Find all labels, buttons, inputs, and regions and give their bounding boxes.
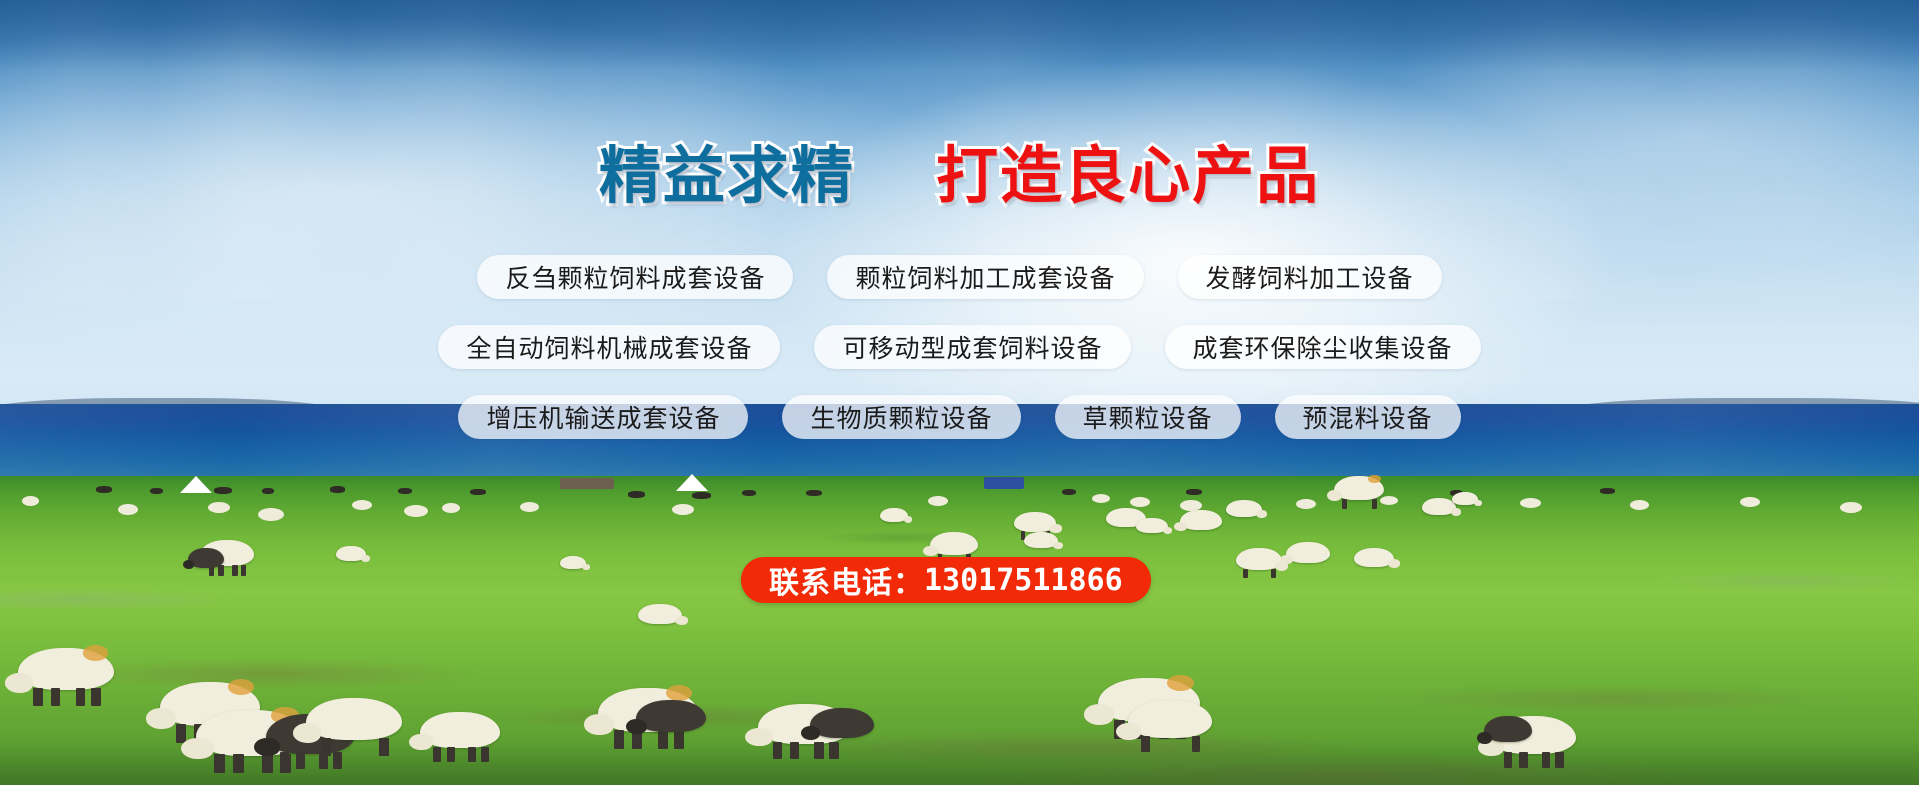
distant-sheep xyxy=(672,504,694,515)
distant-sheep xyxy=(118,504,138,515)
distant-animal xyxy=(692,492,711,499)
distant-animal xyxy=(1186,489,1202,495)
distant-sheep xyxy=(258,508,284,521)
distant-sheep xyxy=(404,505,428,517)
product-pill-fajiao-jiagong[interactable]: 发酵饲料加工设备 xyxy=(1178,255,1442,299)
distant-sheep xyxy=(928,496,948,506)
distant-animal xyxy=(806,490,822,496)
headline-red-text: 打造良心产品 xyxy=(936,143,1320,209)
yurt-icon xyxy=(180,476,212,493)
product-pill-zengyaji-shusong[interactable]: 增压机输送成套设备 xyxy=(458,395,748,439)
sheep xyxy=(930,532,978,555)
distant-sheep xyxy=(22,496,39,506)
contact-phone-number: 13017511866 xyxy=(924,563,1123,598)
contact-phone-badge[interactable]: 联系电话： 13017511866 xyxy=(741,557,1151,603)
sheep xyxy=(1354,548,1394,567)
headline: 精益求精 打造良心产品 xyxy=(0,143,1919,209)
sheep xyxy=(560,556,586,569)
distant-sheep xyxy=(1740,497,1760,507)
product-row-1: 反刍颗粒饲料成套设备 颗粒饲料加工成套设备 发酵饲料加工设备 xyxy=(0,248,1919,306)
distant-sheep xyxy=(1130,497,1150,507)
sheep xyxy=(1226,500,1262,517)
sheep xyxy=(810,708,874,738)
sheep xyxy=(306,698,402,740)
sheep xyxy=(880,508,908,522)
sheep xyxy=(1422,498,1456,515)
distant-sheep xyxy=(1296,499,1316,509)
product-row-2: 全自动饲料机械成套设备 可移动型成套饲料设备 成套环保除尘收集设备 xyxy=(0,318,1919,376)
distant-sheep xyxy=(1630,500,1649,510)
sheep xyxy=(1014,512,1056,532)
sheep xyxy=(420,712,500,748)
distant-animal xyxy=(470,489,486,495)
yurt-icon xyxy=(676,474,708,491)
distant-animal xyxy=(330,486,345,493)
product-pill-cao-keli[interactable]: 草颗粒设备 xyxy=(1055,395,1241,439)
product-category-list: 反刍颗粒饲料成套设备 颗粒饲料加工成套设备 发酵饲料加工设备 全自动饲料机械成套… xyxy=(0,248,1919,458)
distant-animal xyxy=(214,487,232,494)
sheep xyxy=(1180,510,1222,530)
sheep xyxy=(1128,700,1212,738)
product-pill-fanchu-keli[interactable]: 反刍颗粒饲料成套设备 xyxy=(477,255,793,299)
sheep xyxy=(636,700,706,732)
sheep xyxy=(18,648,114,690)
distant-animal xyxy=(150,488,163,494)
sheep xyxy=(1136,518,1168,533)
distant-sheep xyxy=(520,502,539,512)
product-pill-keyidong-chengtao[interactable]: 可移动型成套饲料设备 xyxy=(814,325,1130,369)
hut-icon xyxy=(560,478,614,489)
sheep xyxy=(1452,492,1478,505)
product-pill-huanbao-chuchen[interactable]: 成套环保除尘收集设备 xyxy=(1165,325,1481,369)
distant-sheep xyxy=(1840,502,1862,513)
sheep xyxy=(1334,476,1384,500)
distant-sheep xyxy=(208,502,230,513)
distant-animal xyxy=(628,491,645,498)
product-pill-shengwuzhi-keli[interactable]: 生物质颗粒设备 xyxy=(782,395,1020,439)
sheep xyxy=(1236,548,1282,570)
distant-sheep xyxy=(1520,498,1541,508)
promotional-banner: 精益求精 打造良心产品 反刍颗粒饲料成套设备 颗粒饲料加工成套设备 发酵饲料加工… xyxy=(0,0,1919,785)
sheep xyxy=(638,604,682,624)
distant-animal xyxy=(96,486,112,493)
sheep xyxy=(188,548,224,568)
product-pill-keli-jiagong[interactable]: 颗粒饲料加工成套设备 xyxy=(827,255,1143,299)
distant-animal xyxy=(742,490,756,496)
sheep xyxy=(1484,716,1532,742)
headline-blue-text: 精益求精 xyxy=(599,143,855,209)
distant-sheep xyxy=(442,503,460,513)
distant-animal xyxy=(262,488,274,494)
distant-animal xyxy=(398,488,412,494)
truck-icon xyxy=(984,477,1024,489)
distant-animal xyxy=(1600,488,1615,494)
distant-sheep xyxy=(1092,494,1110,503)
sheep xyxy=(336,546,366,561)
sheep xyxy=(1024,532,1058,548)
product-row-3: 增压机输送成套设备 生物质颗粒设备 草颗粒设备 预混料设备 xyxy=(0,388,1919,446)
distant-sheep xyxy=(1380,496,1398,505)
product-pill-yuhunliao[interactable]: 预混料设备 xyxy=(1275,395,1461,439)
sheep xyxy=(1286,542,1330,563)
sky-top-gradient xyxy=(0,0,1919,70)
product-pill-quanzidong-jixie[interactable]: 全自动饲料机械成套设备 xyxy=(438,325,780,369)
distant-sheep xyxy=(352,500,372,510)
contact-label: 联系电话： xyxy=(769,558,924,602)
distant-animal xyxy=(1062,489,1076,495)
